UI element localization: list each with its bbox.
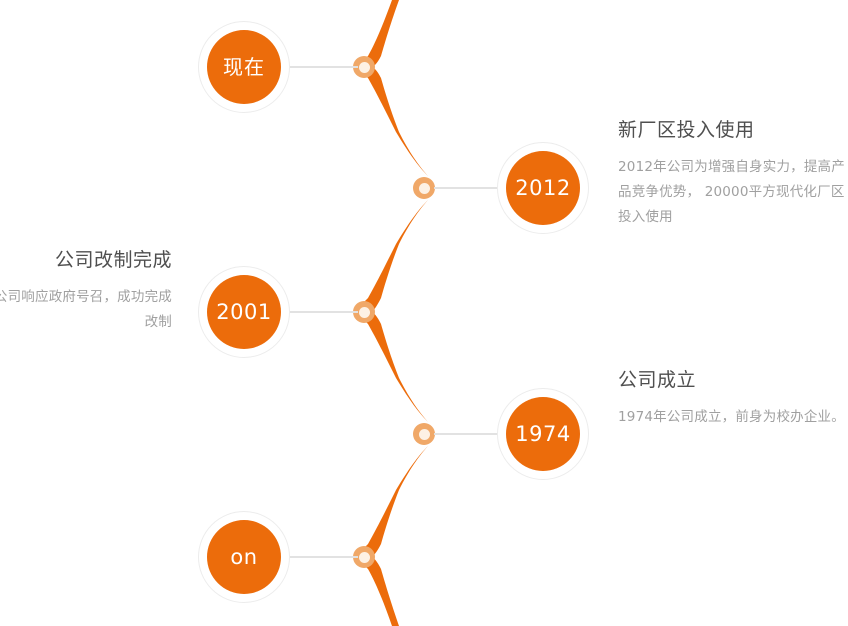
entry-title-1974: 公司成立: [618, 368, 848, 393]
connector-present: [290, 66, 358, 68]
entry-desc-1974: 1974年公司成立，前身为校办企业。: [618, 405, 848, 430]
entry-text-2001: 公司改制完成 2001年公司响应政府号召，成功完成改制: [0, 248, 172, 335]
entry-title-2012: 新厂区投入使用: [618, 118, 848, 143]
year-bubble-label: 现在: [207, 30, 281, 104]
entry-text-2012: 新厂区投入使用 2012年公司为增强自身实力，提高产品竞争优势， 20000平方…: [618, 118, 848, 230]
entry-title-2001: 公司改制完成: [0, 248, 172, 273]
year-bubble-label: 2012: [506, 151, 580, 225]
year-bubble-present[interactable]: 现在: [198, 21, 290, 113]
ring-dot-icon-1974: [413, 423, 435, 445]
year-bubble-label: on: [207, 520, 281, 594]
ring-dot-icon-2012: [413, 177, 435, 199]
year-bubble-label: 2001: [207, 275, 281, 349]
timeline-infographic: 现在 2012 2001 1974 on 新厂区投入使用 2012年公司为增强自…: [0, 0, 848, 626]
connector-2012: [434, 187, 498, 189]
year-bubble-2012[interactable]: 2012: [497, 142, 589, 234]
year-bubble-on[interactable]: on: [198, 511, 290, 603]
connector-2001: [290, 311, 358, 313]
year-bubble-label: 1974: [506, 397, 580, 471]
entry-desc-2001: 2001年公司响应政府号召，成功完成改制: [0, 285, 172, 335]
year-bubble-2001[interactable]: 2001: [198, 266, 290, 358]
entry-desc-2012: 2012年公司为增强自身实力，提高产品竞争优势， 20000平方现代化厂区投入使…: [618, 155, 848, 230]
entry-text-1974: 公司成立 1974年公司成立，前身为校办企业。: [618, 368, 848, 430]
year-bubble-1974[interactable]: 1974: [497, 388, 589, 480]
connector-1974: [434, 433, 498, 435]
connector-on: [290, 556, 358, 558]
